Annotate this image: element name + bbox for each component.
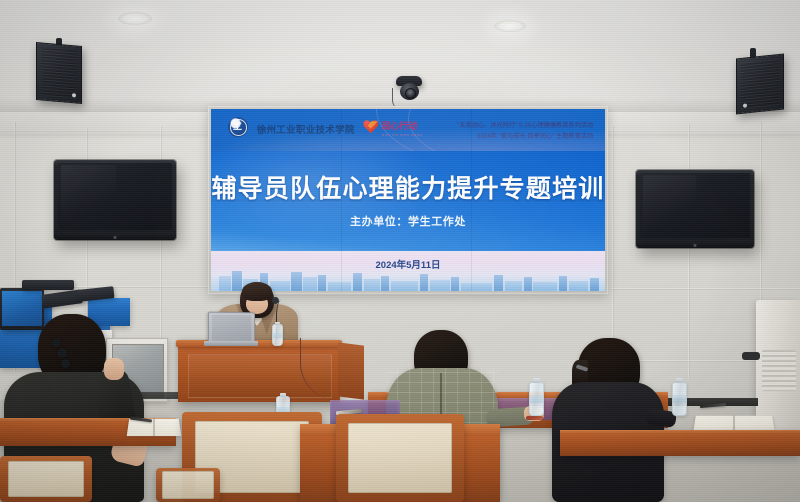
water-bottle [272, 324, 283, 346]
slide-date: 2024年5月11日 [211, 257, 605, 271]
water-bottle [529, 382, 544, 416]
wall-speaker-right [736, 53, 784, 114]
wall-tv-right: ····· [636, 170, 754, 248]
control-monitor [0, 288, 44, 330]
presenter-laptop-screen [208, 312, 255, 345]
presenter-laptop-base [204, 341, 258, 346]
wall-seam [688, 124, 690, 378]
wall-seam [612, 288, 800, 290]
ptz-camera-lens [405, 88, 416, 99]
presentation-screen: 工 徐州工业职业技术学院 润心行动 RUN XIN XING DONG "五育润… [211, 109, 605, 291]
slide-header-line-1: "五育润心、沐光同行" 5·25心理健康教育系列活动 [457, 120, 593, 129]
slide-footer-band: 2024年5月11日 [211, 251, 605, 291]
attendee-left-hand [104, 358, 124, 380]
wall-tv-left: ····· [54, 160, 176, 240]
hair-clip [52, 338, 61, 347]
keyboard-device [22, 280, 74, 290]
hair-clip [61, 359, 70, 368]
ceiling-downlight [118, 12, 152, 25]
water-bottle [672, 382, 687, 416]
audience-chair [0, 456, 92, 502]
audience-chair [156, 468, 220, 502]
microphone-head [272, 297, 279, 304]
wall-seam [760, 122, 762, 322]
audience-desk [560, 430, 800, 456]
presentation-screen-bezel: 工 徐州工业职业技术学院 润心行动 RUN XIN XING DONG "五育润… [208, 106, 608, 294]
slide-organizer: 主办单位：学生工作处 [211, 213, 605, 229]
ac-pipe [742, 352, 760, 360]
ceiling-downlight [494, 20, 526, 32]
slide-header-line-2: 2024年 "爱与成长 四季润心" 主题教育活动 [477, 131, 593, 140]
conference-room-photo: ····· ····· 工 徐州工业职业技术学院 [0, 0, 800, 502]
audience-chair [336, 414, 464, 502]
lectern-side [338, 342, 364, 399]
attendee-wristband [526, 416, 543, 420]
notebook [127, 419, 182, 436]
hair-clip [57, 348, 67, 358]
wall-speaker-left [36, 42, 82, 104]
